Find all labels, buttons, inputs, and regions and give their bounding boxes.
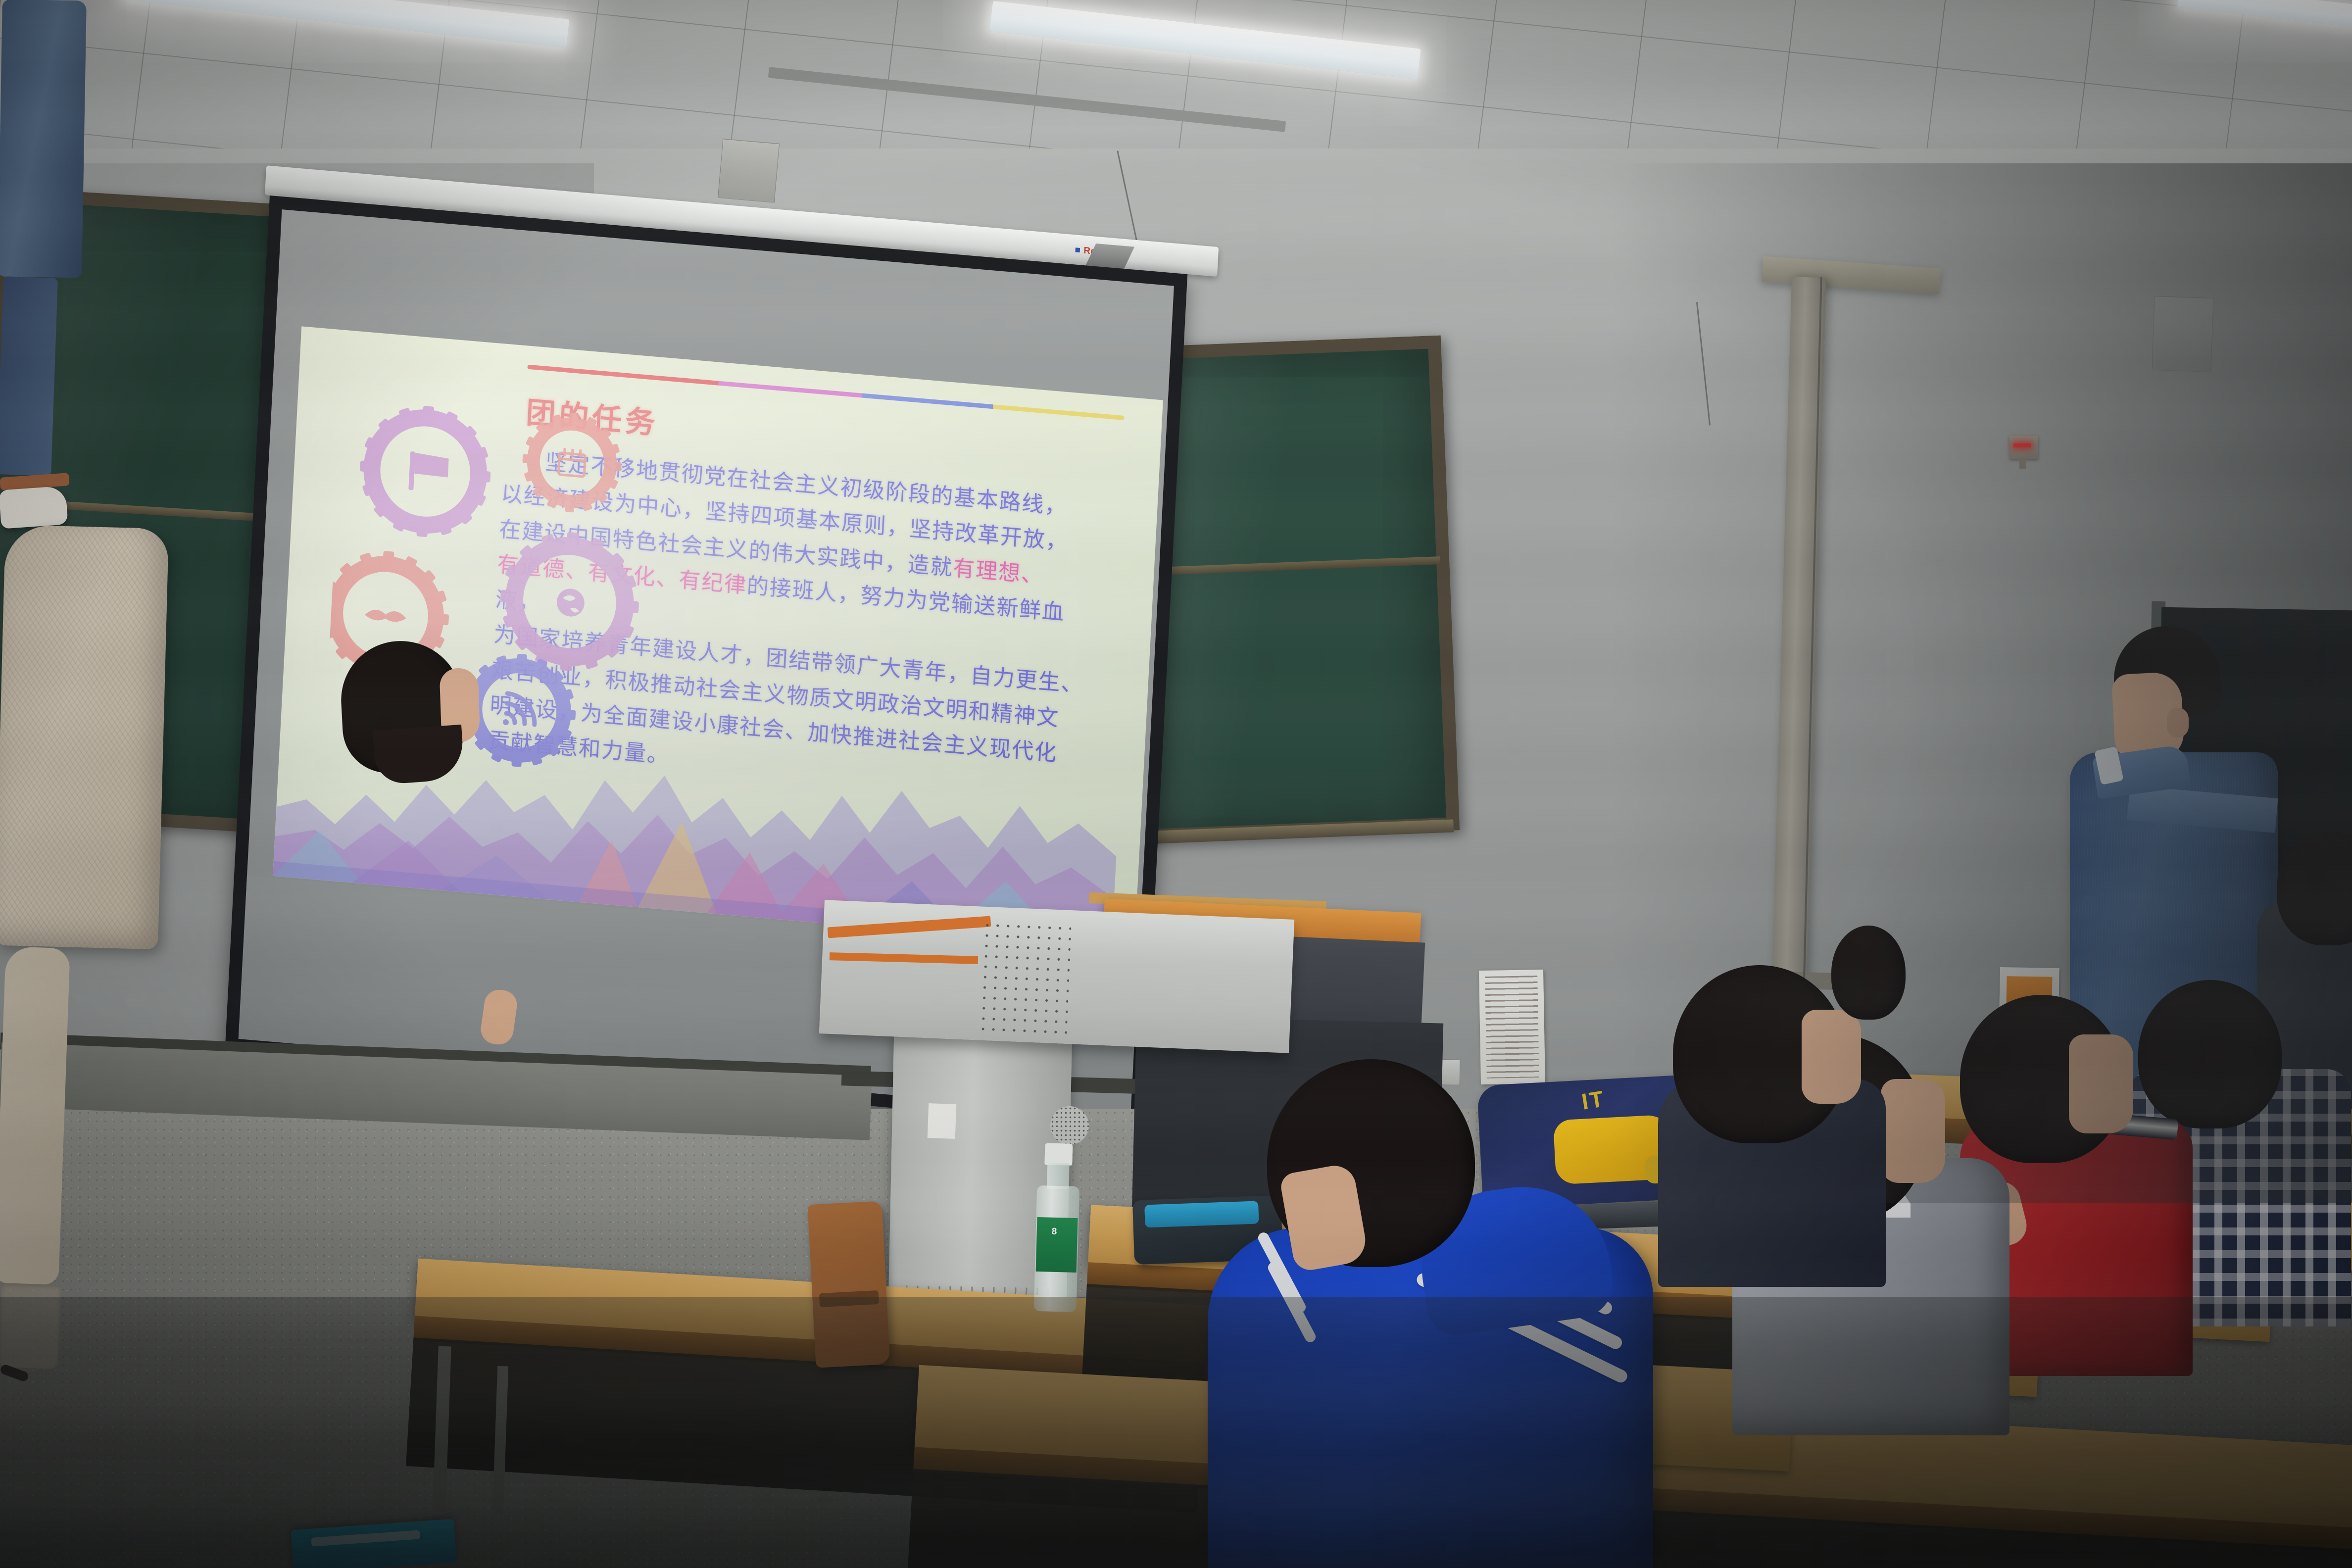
podium-speaker-grille	[1050, 1106, 1089, 1145]
teacher	[0, 0, 163, 1378]
backpack-accent-strip	[1144, 1201, 1259, 1227]
bottle-neck	[1047, 1163, 1069, 1189]
projected-slide: 团的任务 坚定不移地贯彻党在社会主义初级阶段的基本路线， 以经济建设为中心，坚持…	[273, 326, 1163, 950]
water-bottle[interactable]: 8	[1030, 1143, 1084, 1313]
teacher-shoe	[0, 486, 68, 529]
slide-projection-falloff	[273, 326, 1163, 950]
bottle-cap	[1044, 1143, 1073, 1165]
floor-shadow	[0, 1297, 2352, 1568]
podium-perforated-panel	[978, 920, 1071, 1034]
right-wall-shadow	[1610, 163, 2352, 1203]
teacher-jeans	[0, 0, 87, 278]
teacher-jeans-leg	[0, 276, 58, 476]
bottle-label-text: 8	[1051, 1226, 1057, 1237]
wall-vent-box	[718, 139, 780, 203]
jacket-logo-text: IT	[1580, 1085, 1607, 1115]
poster-text-lines	[1485, 976, 1539, 1078]
classroom-scene: ■ Redleaf 团的任务 坚定不移地贯彻党在社会主义初级阶段的基本路线， 以…	[0, 0, 2352, 1568]
bottle-label: 8	[1036, 1217, 1078, 1273]
teacher-arm	[0, 946, 70, 1285]
wall-poster	[1479, 970, 1545, 1084]
teacher-cardigan	[0, 525, 169, 949]
podium-sticker-label	[928, 1103, 956, 1139]
cardigan-knit-texture	[0, 525, 169, 949]
